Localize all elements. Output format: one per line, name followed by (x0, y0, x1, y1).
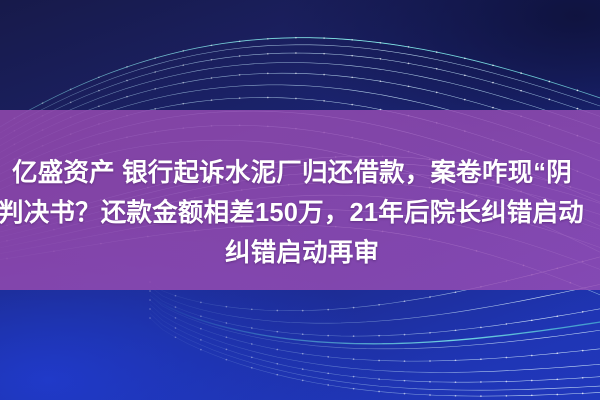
headline-line-3: 纠错启动再审 (225, 233, 379, 273)
banner-image: 亿盛资产 银行起诉水泥厂归还借款，案卷咋现“阴 判决书？还款金额相差150万，2… (0, 0, 600, 400)
headline-line-2: 判决书？还款金额相差150万，21年后院长纠错启动 (0, 193, 584, 233)
headline-line-1: 亿盛资产 银行起诉水泥厂归还借款，案卷咋现“阴 (12, 153, 572, 193)
headline-text-block: 亿盛资产 银行起诉水泥厂归还借款，案卷咋现“阴 判决书？还款金额相差150万，2… (0, 110, 600, 290)
